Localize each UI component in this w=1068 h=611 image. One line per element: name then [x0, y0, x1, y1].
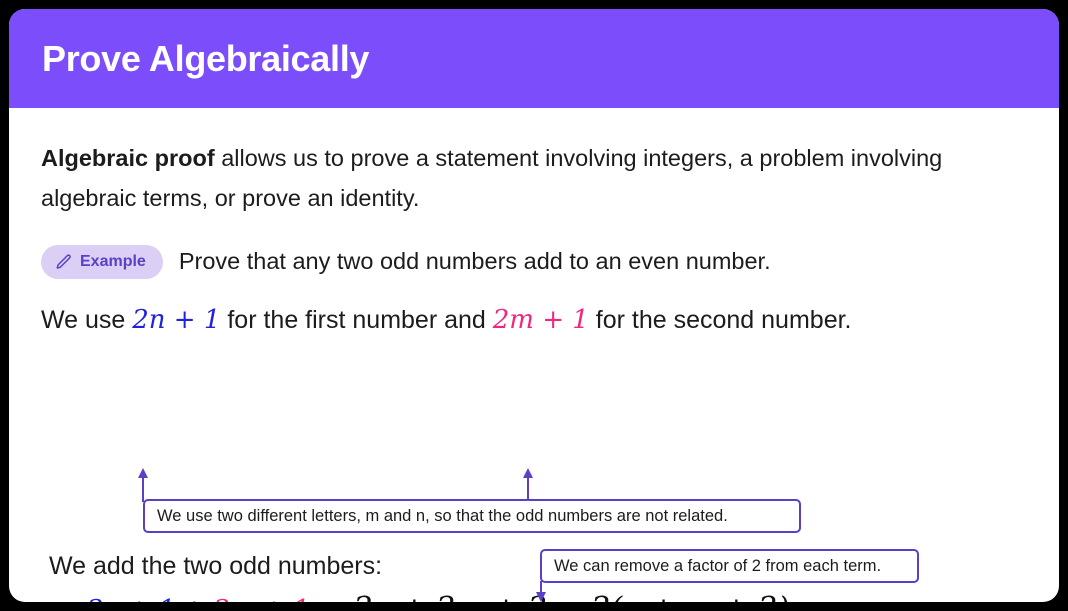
- step-use-text-1: We use: [41, 306, 132, 334]
- arrow-down-factor: [532, 581, 550, 602]
- card-body: Algebraic proof allows us to prove a sta…: [9, 138, 1059, 335]
- pencil-icon: [55, 253, 73, 271]
- page-title: Prove Algebraically: [42, 38, 369, 80]
- arrow-up-pink: [519, 466, 537, 502]
- lesson-card: Prove Algebraically Algebraic proof allo…: [9, 9, 1059, 602]
- step-use-text-2: for the first number and: [220, 306, 492, 334]
- example-badge-label: Example: [80, 253, 146, 271]
- callout-letters-text: We use two different letters, m and n, s…: [157, 507, 728, 526]
- step-use-text-3: for the second number.: [589, 306, 852, 334]
- example-row: Example Prove that any two odd numbers a…: [41, 245, 1027, 279]
- equation-blue-term: 2n + 1: [87, 595, 175, 602]
- example-prompt: Prove that any two odd numbers add to an…: [179, 248, 771, 275]
- example-badge: Example: [41, 245, 163, 279]
- step-use-line: We use 2n + 1 for the first number and 2…: [41, 305, 1027, 335]
- step-add-label: We add the two odd numbers:: [49, 552, 382, 581]
- equation-pink-term: 2m + 1: [213, 595, 309, 602]
- main-equation: 2n + 1 + 2m + 1 = 2n + 2m + 2 = 2(n + m …: [87, 591, 789, 602]
- arrow-up-blue: [134, 466, 152, 502]
- intro-paragraph: Algebraic proof allows us to prove a sta…: [41, 138, 1001, 219]
- intro-bold-lead: Algebraic proof: [41, 145, 215, 171]
- expression-pink-inline: 2m + 1: [493, 305, 589, 335]
- callout-letters: We use two different letters, m and n, s…: [143, 499, 801, 533]
- equation-plus: +: [175, 595, 213, 602]
- card-header: Prove Algebraically: [9, 9, 1059, 108]
- expression-blue-inline: 2n + 1: [132, 305, 220, 335]
- callout-factor: We can remove a factor of 2 from each te…: [540, 549, 919, 583]
- callout-factor-text: We can remove a factor of 2 from each te…: [554, 557, 881, 576]
